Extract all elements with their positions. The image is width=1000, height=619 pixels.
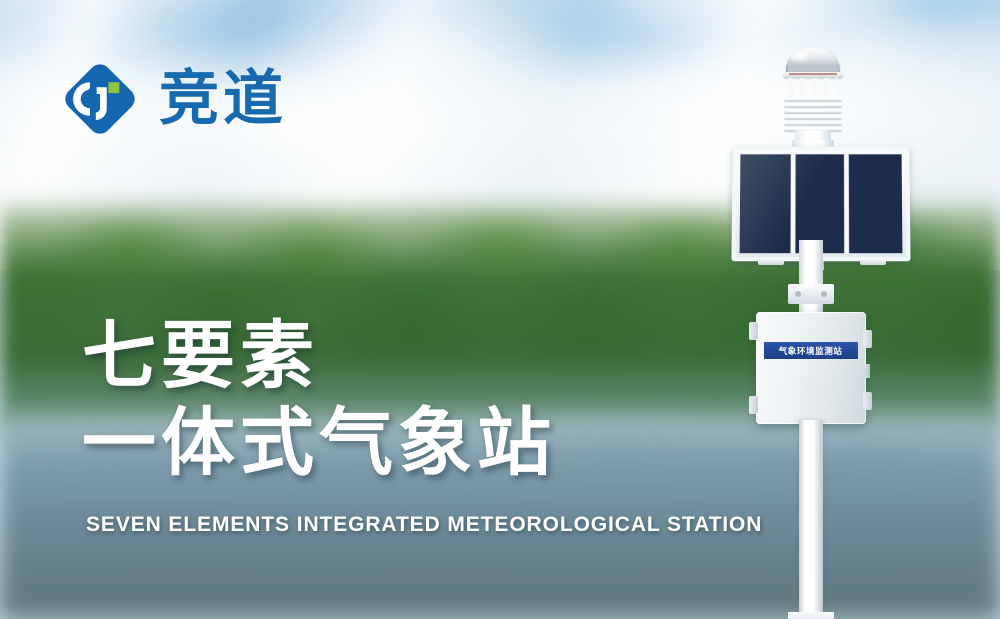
sensor-collar-stripe bbox=[789, 73, 837, 75]
brand-name: 竞道 bbox=[159, 69, 287, 129]
pole-lower-segment bbox=[799, 420, 823, 619]
controller-enclosure: 气象环境监测站 bbox=[756, 312, 866, 424]
headline-line-1: 七要素 bbox=[82, 318, 702, 394]
pole-bracket bbox=[788, 284, 834, 304]
banner: 竞道 七要素 一体式气象站 SEVEN ELEMENTS INTEGRATED … bbox=[0, 0, 1000, 619]
enclosure-label-text: 气象环境监测站 bbox=[779, 344, 843, 356]
pole-foot bbox=[788, 612, 834, 619]
sensor-cage bbox=[788, 78, 838, 98]
enclosure-lug bbox=[863, 330, 872, 348]
solar-cells bbox=[740, 154, 903, 253]
jingdao-diamond-logo-icon bbox=[58, 57, 142, 141]
headline-block: 七要素 一体式气象站 SEVEN ELEMENTS INTEGRATED MET… bbox=[82, 318, 702, 537]
weather-station-graphic: 气象环境监测站 bbox=[700, 40, 960, 619]
enclosure-label-plate: 气象环境监测站 bbox=[764, 342, 858, 359]
headline-line-2: 一体式气象站 bbox=[82, 405, 702, 481]
enclosure-latch bbox=[865, 364, 870, 378]
enclosure-lug bbox=[863, 392, 872, 410]
ultrasonic-weather-sensor-icon bbox=[786, 48, 840, 74]
enclosure-lug bbox=[749, 396, 758, 414]
panel-bracket-left bbox=[758, 258, 784, 265]
headline-subtitle: SEVEN ELEMENTS INTEGRATED METEOROLOGICAL… bbox=[86, 513, 702, 537]
enclosure-lug bbox=[749, 322, 758, 340]
radiation-shield-icon bbox=[784, 97, 842, 131]
brand-logo: 竞道 bbox=[58, 57, 287, 141]
panel-bracket-right bbox=[860, 258, 886, 265]
